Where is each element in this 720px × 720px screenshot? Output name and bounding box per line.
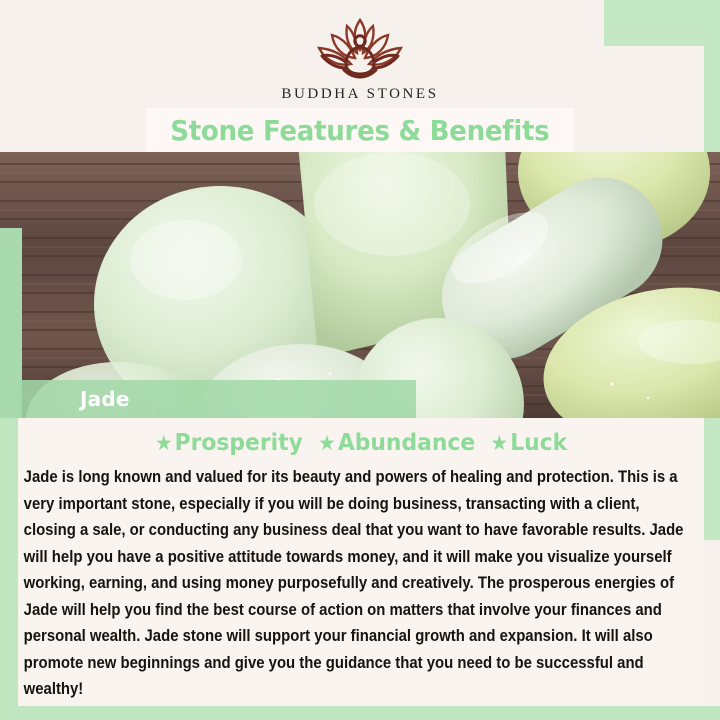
- star-icon: ★: [318, 431, 336, 455]
- lotus-meditation-icon: [0, 12, 720, 84]
- keyword-prosperity: ★Prosperity: [155, 430, 303, 456]
- page-title: Stone Features & Benefits: [170, 114, 549, 147]
- keyword-label: Abundance: [338, 430, 475, 456]
- jade-stones-photo: [0, 152, 720, 418]
- decorative-strip-left: [0, 404, 18, 720]
- keyword-label: Prosperity: [175, 430, 303, 456]
- title-banner: Stone Features & Benefits: [146, 108, 574, 152]
- brand-name: BUDDHA STONES: [0, 86, 720, 103]
- keyword-luck: ★Luck: [490, 430, 567, 456]
- brand-logo: BUDDHA STONES: [0, 12, 720, 103]
- stone-name: Jade: [80, 387, 130, 411]
- stone-name-band: Jade: [18, 380, 416, 418]
- keyword-label: Luck: [510, 430, 567, 456]
- keyword-list: ★Prosperity ★Abundance ★Luck: [37, 432, 685, 455]
- keyword-abundance: ★Abundance: [318, 430, 475, 456]
- infographic-page: BUDDHA STONES Stone Features & Benefits: [0, 0, 720, 720]
- stone-description: Jade is long known and valued for its be…: [20, 464, 700, 703]
- star-icon: ★: [490, 431, 508, 455]
- decorative-strip-bottom: [0, 706, 720, 720]
- star-icon: ★: [155, 431, 173, 455]
- photo-illustration: [0, 152, 720, 418]
- description-card: ★Prosperity ★Abundance ★Luck Jade is lon…: [18, 418, 704, 706]
